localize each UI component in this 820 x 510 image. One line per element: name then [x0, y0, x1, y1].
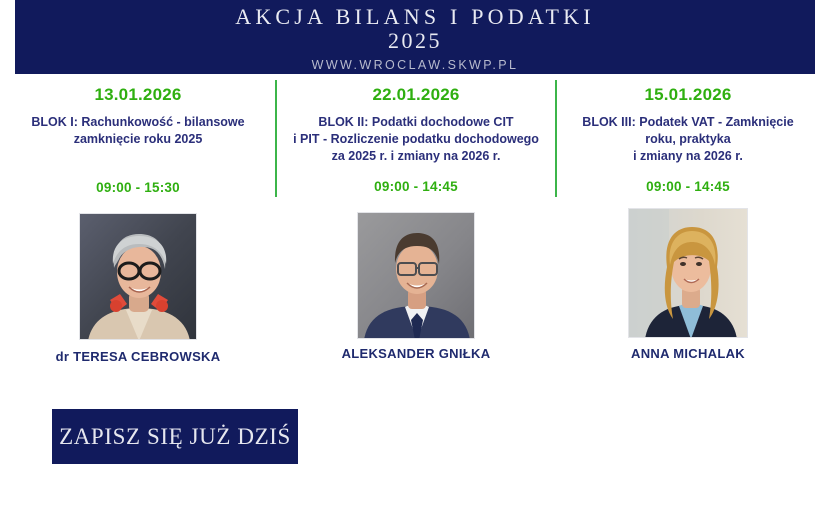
- presenter-name-1: dr TERESA CEBROWSKA: [56, 349, 221, 364]
- portrait-anna-michalak: [628, 208, 748, 338]
- website-url: WWW.WROCLAW.SKWP.PL: [312, 56, 519, 74]
- page-title-year: 2025: [388, 29, 442, 53]
- session-description-3: BLOK III: Podatek VAT - Zamknięcie roku,…: [582, 114, 793, 165]
- session-columns: 13.01.2026 BLOK I: Rachunkowość - bilans…: [0, 78, 820, 368]
- session-date-3: 15.01.2026: [644, 85, 731, 105]
- session-time-3: 09:00 - 14:45: [646, 179, 730, 195]
- signup-button[interactable]: ZAPISZ SIĘ JUŻ DZIŚ: [52, 409, 298, 464]
- session-time-2: 09:00 - 14:45: [374, 179, 458, 195]
- portrait-aleksander-gnilka: [357, 212, 475, 339]
- header-banner: AKCJA BILANS I PODATKI 2025 WWW.WROCLAW.…: [15, 0, 815, 74]
- presenter-name-3: ANNA MICHALAK: [631, 346, 745, 361]
- signup-button-label: ZAPISZ SIĘ JUŻ DZIŚ: [59, 424, 291, 450]
- session-description-2: BLOK II: Podatki dochodowe CIT i PIT - R…: [293, 114, 539, 165]
- session-column-1: 13.01.2026 BLOK I: Rachunkowość - bilans…: [0, 78, 276, 368]
- session-column-2: 22.01.2026 BLOK II: Podatki dochodowe CI…: [276, 78, 556, 368]
- portrait-teresa-cebrowska: [79, 213, 197, 340]
- session-time-1: 09:00 - 15:30: [96, 180, 180, 196]
- session-date-1: 13.01.2026: [94, 85, 181, 105]
- page-title: AKCJA BILANS I PODATKI: [235, 4, 594, 29]
- session-column-3: 15.01.2026 BLOK III: Podatek VAT - Zamkn…: [556, 78, 820, 368]
- session-date-2: 22.01.2026: [372, 85, 459, 105]
- session-description-1: BLOK I: Rachunkowość - bilansowe zamknię…: [31, 114, 244, 148]
- presenter-name-2: ALEKSANDER GNIŁKA: [342, 346, 491, 361]
